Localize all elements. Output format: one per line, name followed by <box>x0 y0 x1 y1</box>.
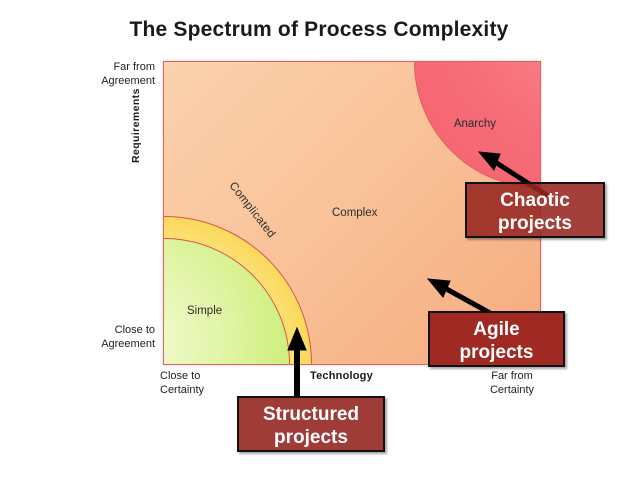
y-axis-title: Requirements <box>130 88 142 163</box>
y-axis-bottom-label: Close to Agreement <box>35 323 155 351</box>
zone-simple <box>163 238 290 365</box>
callout-chaotic-projects[interactable]: Chaotic projects <box>465 182 605 238</box>
zone-label-complicated: Complicated <box>227 180 278 240</box>
x-axis-title: Technology <box>310 370 373 382</box>
x-axis-left-label: Close to Certainty <box>160 369 250 397</box>
zone-label-simple: Simple <box>187 305 222 317</box>
zone-label-complex: Complex <box>332 207 377 219</box>
zone-label-anarchy: Anarchy <box>454 118 496 130</box>
y-axis-top-label: Far from Agreement <box>35 60 155 88</box>
callout-agile-projects[interactable]: Agile projects <box>428 311 565 367</box>
diagram-root: The Spectrum of Process Complexity Requi… <box>0 0 638 479</box>
callout-structured-projects[interactable]: Structured projects <box>237 396 385 452</box>
page-title: The Spectrum of Process Complexity <box>0 18 638 42</box>
x-axis-right-label: Far from Certainty <box>452 369 572 397</box>
